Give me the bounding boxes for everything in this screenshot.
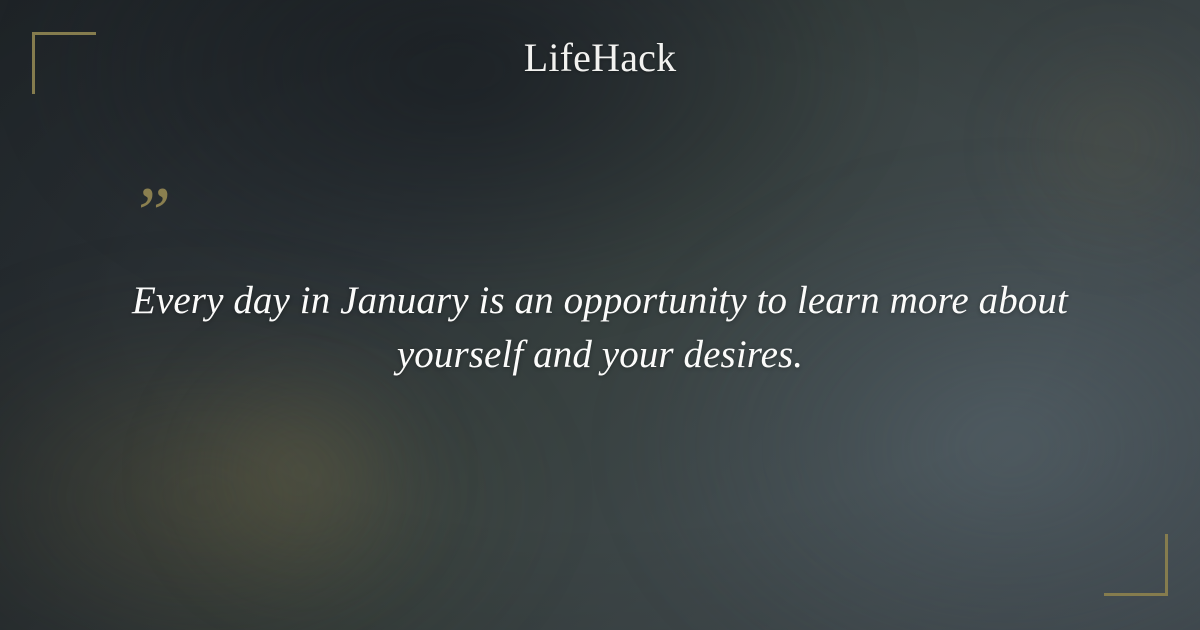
quote-card: LifeHack ” Every day in January is an op… [0, 0, 1200, 630]
corner-bracket-top-left-horizontal [32, 32, 96, 35]
corner-bracket-bottom-right-horizontal [1104, 593, 1168, 596]
corner-bracket-bottom-right [1104, 534, 1168, 596]
corner-bracket-bottom-right-vertical [1165, 534, 1168, 596]
brand-logo: LifeHack [0, 38, 1200, 78]
quote-text: Every day in January is an opportunity t… [100, 274, 1100, 382]
quotation-mark-icon: ” [100, 188, 1100, 246]
quote-block: ” Every day in January is an opportunity… [100, 188, 1100, 382]
